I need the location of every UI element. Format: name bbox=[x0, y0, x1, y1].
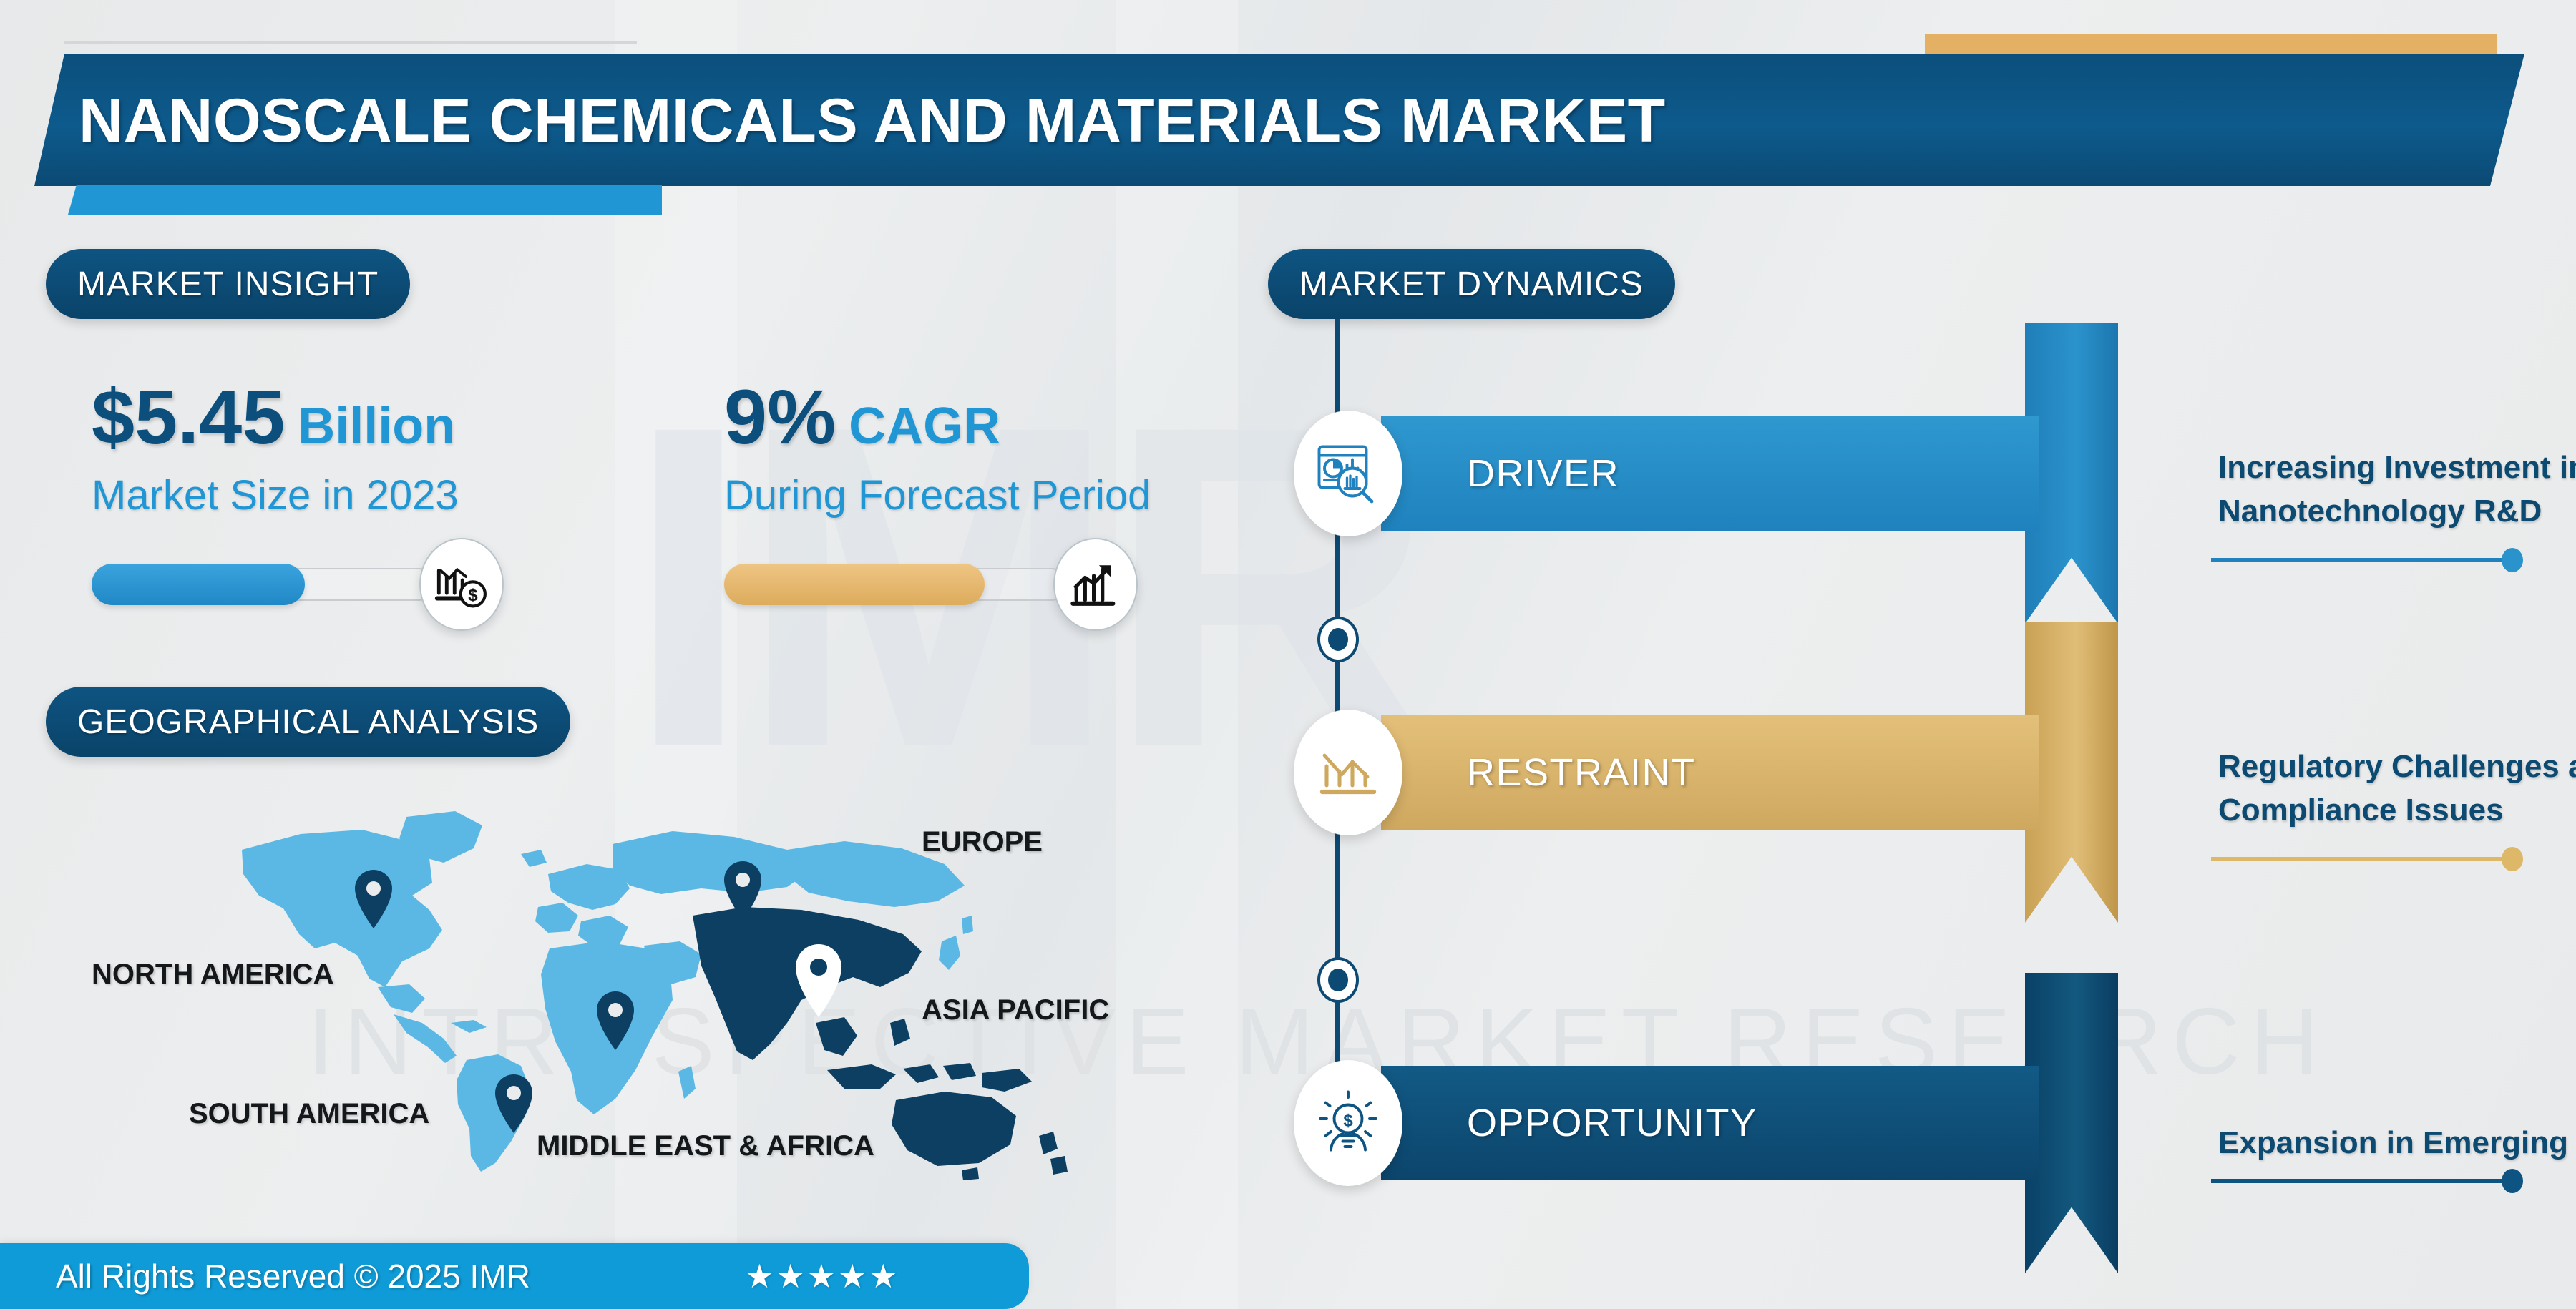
map-label-middle-east-africa: MIDDLE EAST & AFRICA bbox=[537, 1130, 874, 1162]
driver-end-dot bbox=[2502, 548, 2523, 572]
star-rating: ★★★★★ bbox=[745, 1257, 899, 1295]
driver-label: DRIVER bbox=[1467, 451, 1619, 496]
map-label-europe: EUROPE bbox=[922, 826, 1043, 858]
stat-value: $5.45 bbox=[92, 372, 285, 461]
cagr-progress-bar bbox=[724, 564, 1068, 605]
driver-underline bbox=[2211, 558, 2512, 562]
restraint-underline bbox=[2211, 857, 2512, 861]
growth-arrow-chart-icon bbox=[1053, 538, 1138, 631]
driver-ribbon: DRIVER bbox=[1381, 416, 2039, 531]
map-label-south-america: SOUTH AMERICA bbox=[189, 1098, 429, 1130]
stat-caption: Market Size in 2023 bbox=[92, 471, 459, 519]
stat-unit: CAGR bbox=[849, 397, 1000, 456]
svg-text:$: $ bbox=[468, 586, 478, 605]
market-insight-heading: MARKET INSIGHT bbox=[46, 249, 410, 319]
map-pin-south-america bbox=[495, 1074, 532, 1133]
declining-bar-chart-icon bbox=[1294, 710, 1402, 835]
map-label-north-america: NORTH AMERICA bbox=[92, 959, 334, 991]
infographic-canvas: IMR INTROSPECTIVE MARKET RESEARCH NANOSC… bbox=[0, 0, 2576, 1309]
restraint-label: RESTRAINT bbox=[1467, 750, 1696, 795]
map-pin-middle-east-africa bbox=[597, 991, 634, 1050]
stat-caption: During Forecast Period bbox=[724, 471, 1151, 519]
driver-description: Increasing Investment in Nanotechnology … bbox=[2218, 446, 2576, 533]
opportunity-label: OPPORTUNITY bbox=[1467, 1101, 1757, 1145]
market-dynamics-heading: MARKET DYNAMICS bbox=[1268, 249, 1675, 319]
restraint-end-dot bbox=[2502, 847, 2523, 871]
progress-fill bbox=[92, 564, 305, 605]
market-size-progress-bar bbox=[92, 564, 435, 605]
opportunity-ribbon: OPPORTUNITY bbox=[1381, 1066, 2039, 1180]
stat-unit: Billion bbox=[298, 397, 455, 456]
restraint-description: Regulatory Challenges and Compliance Iss… bbox=[2218, 745, 2576, 832]
map-label-asia-pacific: ASIA PACIFIC bbox=[922, 994, 1109, 1026]
geographical-analysis-heading: GEOGRAPHICAL ANALYSIS bbox=[46, 687, 570, 757]
header-hairline bbox=[64, 41, 637, 44]
svg-text:$: $ bbox=[1343, 1112, 1353, 1131]
dashboard-magnifier-icon bbox=[1294, 411, 1402, 536]
header-blue-accent bbox=[68, 185, 662, 215]
opportunity-end-dot bbox=[2502, 1169, 2523, 1193]
stat-value: 9% bbox=[724, 372, 836, 461]
lightbulb-dollar-icon: $ bbox=[1294, 1060, 1402, 1186]
opportunity-underline bbox=[2211, 1179, 2512, 1183]
timeline-node bbox=[1317, 957, 1359, 1003]
footer-bar: All Rights Reserved © 2025 IMR ★★★★★ bbox=[0, 1243, 1029, 1309]
page-title: NANOSCALE CHEMICALS AND MATERIALS MARKET bbox=[79, 86, 1666, 157]
map-pin-europe bbox=[724, 861, 761, 920]
opportunity-description: Expansion in Emerging Markets bbox=[2218, 1122, 2576, 1165]
stat-cagr: 9%CAGR During Forecast Period bbox=[724, 372, 1151, 519]
map-pin-asia-pacific bbox=[796, 944, 841, 1017]
progress-fill bbox=[724, 564, 985, 605]
stat-market-size: $5.45Billion Market Size in 2023 bbox=[92, 372, 459, 519]
map-pin-north-america bbox=[355, 870, 392, 928]
restraint-ribbon: RESTRAINT bbox=[1381, 715, 2039, 830]
copyright-text: All Rights Reserved © 2025 IMR bbox=[56, 1257, 530, 1295]
bar-chart-dollar-icon: $ bbox=[419, 538, 504, 631]
timeline-node bbox=[1317, 617, 1359, 662]
